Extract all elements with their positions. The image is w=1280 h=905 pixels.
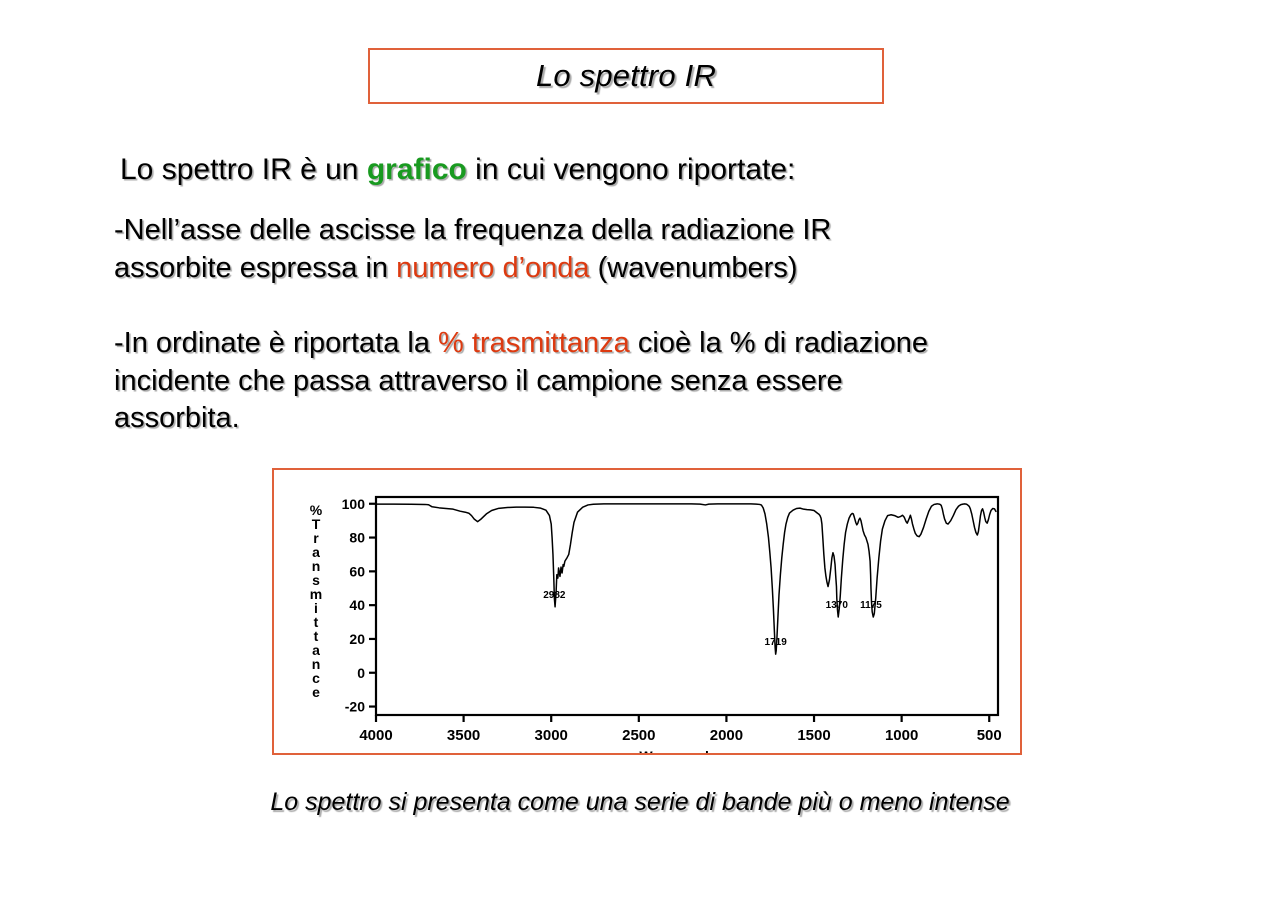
slide-title-banner: Lo spettro IR [368,48,884,104]
intro-text-before: Lo spettro IR è un [120,153,367,186]
y-tick-label: 100 [342,496,366,512]
peak-label: 1175 [860,600,882,611]
spectrum-trace [376,504,996,654]
ascisse-line-1: -Nell’asse delle ascisse la frequenza de… [114,212,1168,250]
page-title: Lo spettro IR [536,58,716,94]
x-tick-label: 1000 [885,727,918,744]
x-tick-label: 500 [977,727,1002,744]
ordinate-line-2: incidente che passa attraverso il campio… [114,363,1168,401]
ordinate-line3-text: assorbita. [114,402,240,434]
x-tick-label: 2000 [710,727,743,744]
ordinate-line-1: -In ordinate è riportata la % trasmittan… [114,325,1168,363]
ascisse-line1-text: -Nell’asse delle ascisse la frequenza de… [114,214,831,246]
ordinate-highlight-trasmittanza: % trasmittanza [438,327,630,359]
x-tick-label: 4000 [359,727,392,744]
x-axis-label: Wavenumbers [639,748,734,753]
peak-label: 2982 [543,590,566,601]
paragraph-ordinate: -In ordinate è riportata la % trasmittan… [114,325,1168,438]
x-tick-label: 2500 [622,727,655,744]
y-tick-label: 20 [349,631,365,647]
paragraph-ascisse: -Nell’asse delle ascisse la frequenza de… [114,212,1168,287]
ordinate-line2-text: incidente che passa attraverso il campio… [114,365,843,397]
x-tick-label: 3500 [447,727,480,744]
y-tick-label: 80 [349,530,365,546]
plot-box [376,497,998,715]
intro-text-after: in cui vengono riportate: [467,153,796,186]
ir-spectrum-chart: 100806040200-204000350030002500200015001… [274,470,1020,753]
ascisse-highlight-numero-donda: numero d’onda [396,252,589,284]
ordinate-line1-before: -In ordinate è riportata la [114,327,438,359]
y-axis-label-char: e [312,684,320,700]
ascisse-line2-after: (wavenumbers) [590,252,798,284]
peak-label: 1370 [826,600,849,611]
intro-highlight-grafico: grafico [367,153,467,186]
intro-paragraph: Lo spettro IR è un grafico in cui vengon… [120,150,1170,189]
figure-caption: Lo spettro si presenta come una serie di… [0,788,1280,817]
chart-axes: 100806040200-204000350030002500200015001… [310,496,1002,753]
chart-labels: 2982171913701175 [543,590,882,648]
x-tick-label: 1500 [797,727,830,744]
ir-spectrum-figure: 100806040200-204000350030002500200015001… [272,468,1022,755]
ascisse-line-2: assorbite espressa in numero d’onda (wav… [114,250,1168,288]
peak-label: 1719 [765,637,788,648]
y-tick-label: 0 [357,665,365,681]
ordinate-line-3: assorbita. [114,400,1168,438]
y-tick-label: 40 [349,597,365,613]
y-tick-label: 60 [349,563,365,579]
chart-trace [376,504,996,654]
ascisse-line2-before: assorbite espressa in [114,252,396,284]
x-tick-label: 3000 [535,727,568,744]
y-tick-label: -20 [345,699,365,715]
ordinate-line1-after: cioè la % di radiazione [630,327,928,359]
